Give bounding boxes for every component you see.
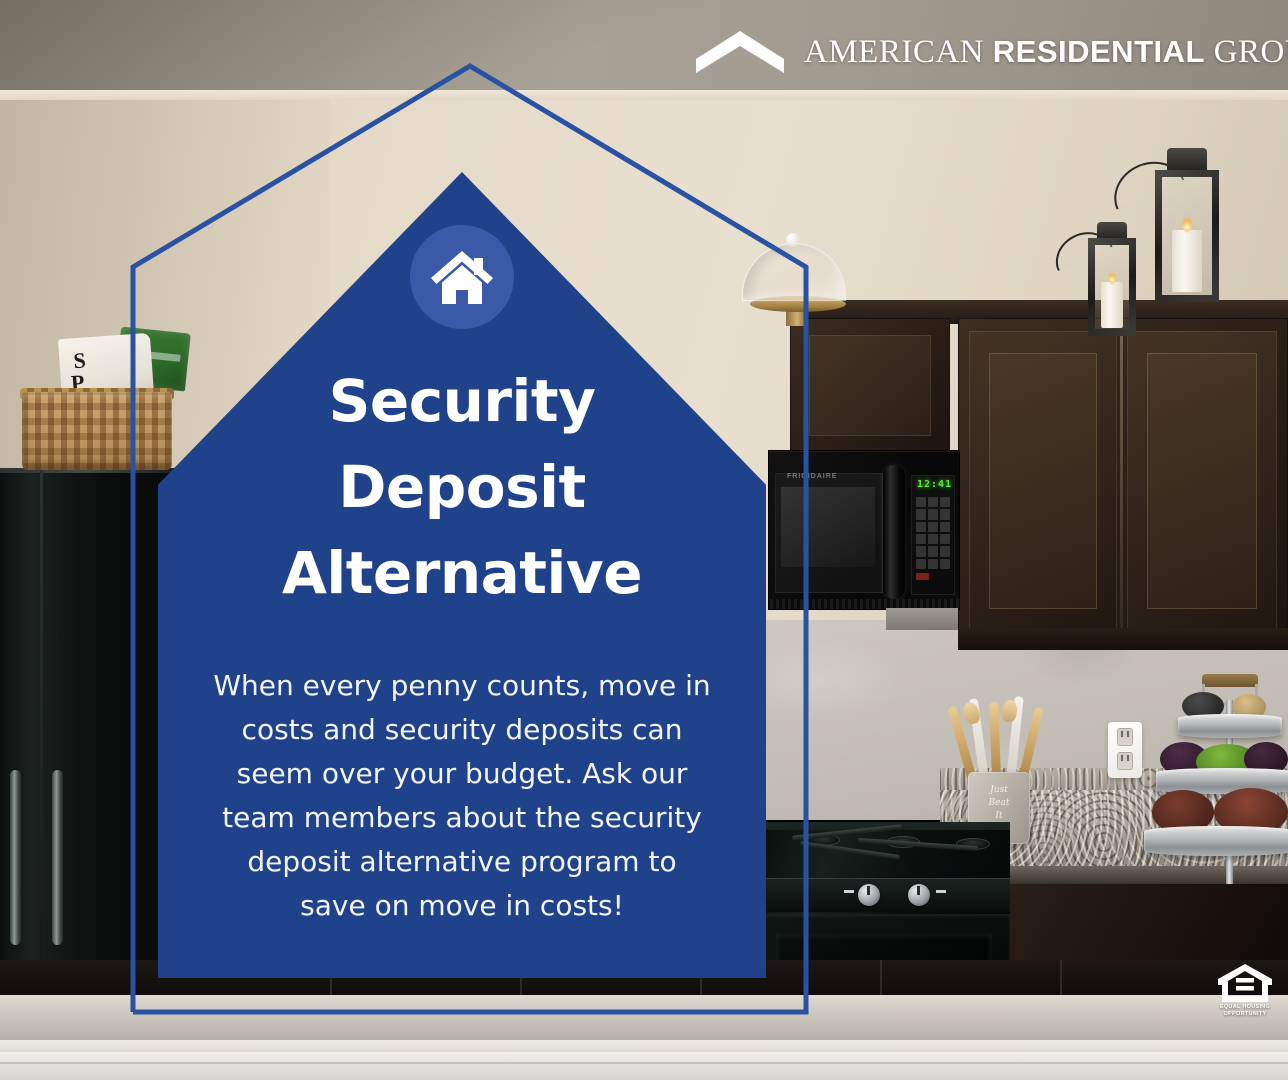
- equal-housing-opportunity-text: EQUAL HOUSING OPPORTUNITY: [1216, 1004, 1274, 1018]
- brand-logo: AMERICAN RESIDENTIAL GROUP: [694, 26, 1288, 78]
- page-title: Security Deposit Alternative: [158, 358, 766, 616]
- headline-line-3: Alternative: [158, 530, 766, 616]
- chevron-roof-icon: [694, 29, 786, 75]
- body-copy: When every penny counts, move in costs a…: [212, 664, 712, 928]
- equal-housing-opportunity-icon: [1216, 962, 1274, 1004]
- brand-name-part-2: RESIDENTIAL: [993, 34, 1205, 69]
- brand-name: AMERICAN RESIDENTIAL GROUP: [804, 34, 1288, 71]
- house-icon: [429, 247, 495, 307]
- equal-housing-opportunity-logo: EQUAL HOUSING OPPORTUNITY: [1216, 962, 1274, 1026]
- brand-name-part-3: GROUP: [1214, 34, 1288, 70]
- house-badge: [410, 225, 514, 329]
- marketing-graphic: S P: [0, 0, 1288, 1080]
- eho-line-1: EQUAL HOUSING: [1220, 1004, 1270, 1010]
- brand-name-part-1: AMERICAN: [804, 34, 984, 70]
- eho-line-2: OPPORTUNITY: [1223, 1011, 1266, 1017]
- headline-line-2: Deposit: [158, 444, 766, 530]
